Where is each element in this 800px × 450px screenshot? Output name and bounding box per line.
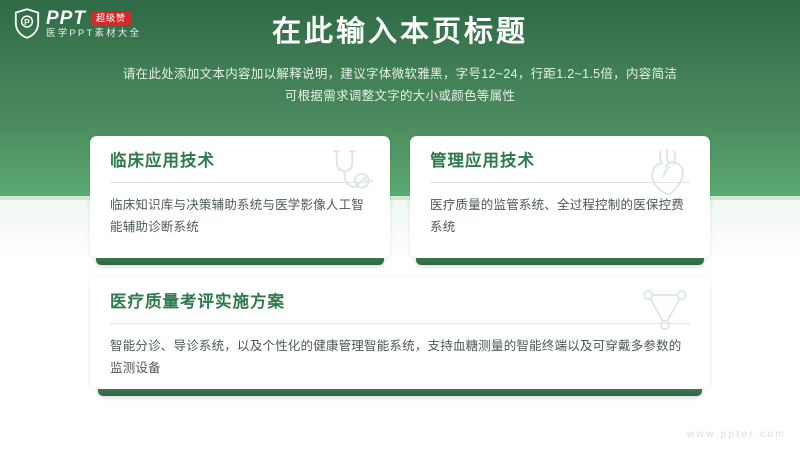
logo-badge: 超级赞 — [91, 12, 131, 25]
subtitle-line-1: 请在此处添加文本内容加以解释说明，建议字体微软雅黑，字号12~24，行距1.2~… — [0, 64, 800, 86]
logo-brand-text: PPT — [46, 9, 86, 28]
card-body: 医疗质量的监管系统、全过程控制的医保控费系统 — [430, 195, 690, 239]
card-clinical[interactable]: 临床应用技术 临床知识库与决策辅助系统与医学影像人工智能辅助诊断系统 — [90, 136, 390, 258]
logo-tagline: 医学PPT素材大全 — [46, 29, 141, 39]
card-divider — [430, 182, 690, 183]
card-body: 临床知识库与决策辅助系统与医学影像人工智能辅助诊断系统 — [110, 195, 370, 239]
card-title: 临床应用技术 — [110, 152, 370, 172]
card-title: 医疗质量考评实施方案 — [110, 293, 690, 313]
card-wrapper-quality: 医疗质量考评实施方案 智能分诊、导诊系统，以及个性化的健康管理智能系统，支持血糖… — [90, 277, 710, 389]
card-body: 智能分诊、导诊系统，以及个性化的健康管理智能系统，支持血糖测量的智能终端以及可穿… — [110, 336, 690, 380]
card-wrapper-management: 管理应用技术 医疗质量的监管系统、全过程控制的医保控费系统 — [410, 136, 710, 258]
shield-icon: P — [14, 8, 40, 39]
brand-logo[interactable]: P PPT 超级赞 医学PPT素材大全 — [14, 8, 141, 39]
site-watermark: www.ppter.com — [687, 429, 786, 440]
subtitle-line-2: 可根据需求调整文字的大小或颜色等属性 — [0, 86, 800, 108]
card-divider — [110, 182, 370, 183]
cards-row-top: 临床应用技术 临床知识库与决策辅助系统与医学影像人工智能辅助诊断系统 — [90, 136, 710, 258]
card-quality-plan[interactable]: 医疗质量考评实施方案 智能分诊、导诊系统，以及个性化的健康管理智能系统，支持血糖… — [90, 277, 710, 389]
svg-text:P: P — [24, 17, 30, 27]
card-wrapper-clinical: 临床应用技术 临床知识库与决策辅助系统与医学影像人工智能辅助诊断系统 — [90, 136, 390, 258]
slide-canvas: P PPT 超级赞 医学PPT素材大全 在此输入本页标题 请在此处添加文本内容加… — [0, 0, 800, 450]
card-title: 管理应用技术 — [430, 152, 690, 172]
page-subtitle: 请在此处添加文本内容加以解释说明，建议字体微软雅黑，字号12~24，行距1.2~… — [0, 64, 800, 108]
card-divider — [110, 323, 690, 324]
card-management[interactable]: 管理应用技术 医疗质量的监管系统、全过程控制的医保控费系统 — [410, 136, 710, 258]
content-cards: 临床应用技术 临床知识库与决策辅助系统与医学影像人工智能辅助诊断系统 — [90, 136, 710, 389]
